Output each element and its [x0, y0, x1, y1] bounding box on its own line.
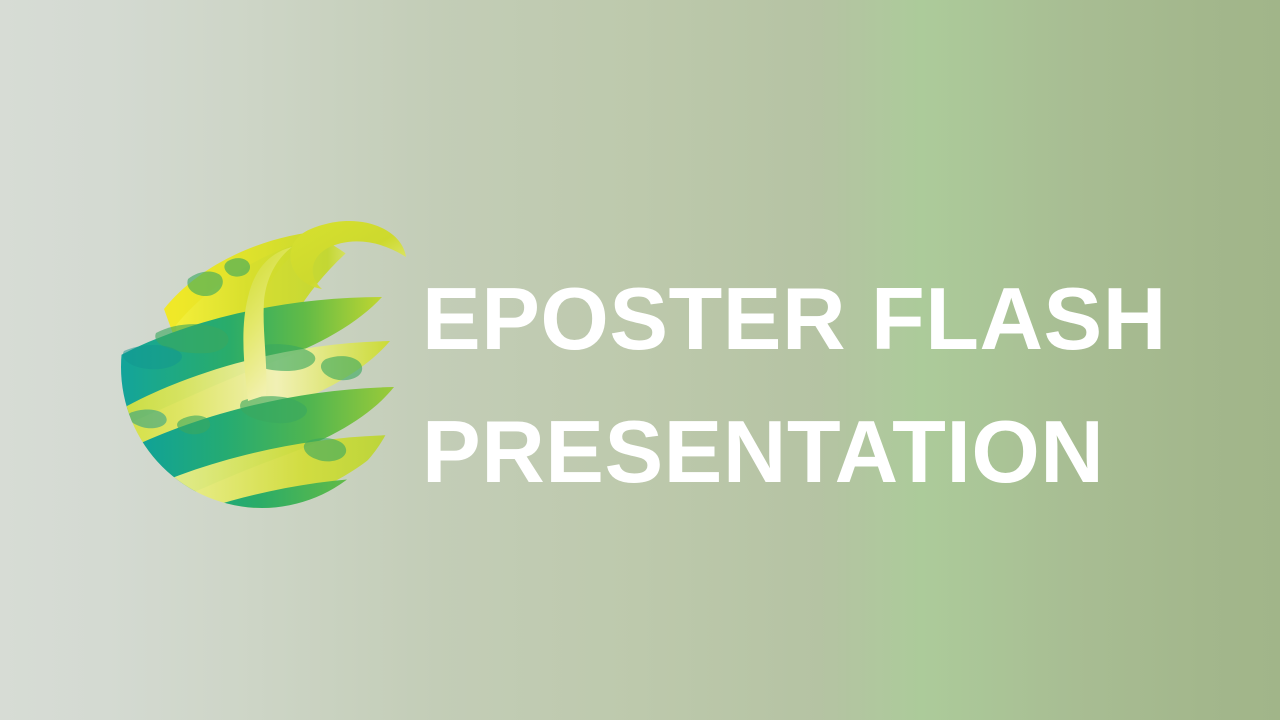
title-line-2: PRESENTATION: [422, 385, 1222, 518]
slide-title: EPOSTER FLASH PRESENTATION: [422, 252, 1222, 518]
globe-ribbon-leaf-logo: [116, 205, 408, 517]
title-line-1: EPOSTER FLASH: [422, 252, 1222, 385]
presentation-slide: EPOSTER FLASH PRESENTATION: [0, 0, 1280, 720]
